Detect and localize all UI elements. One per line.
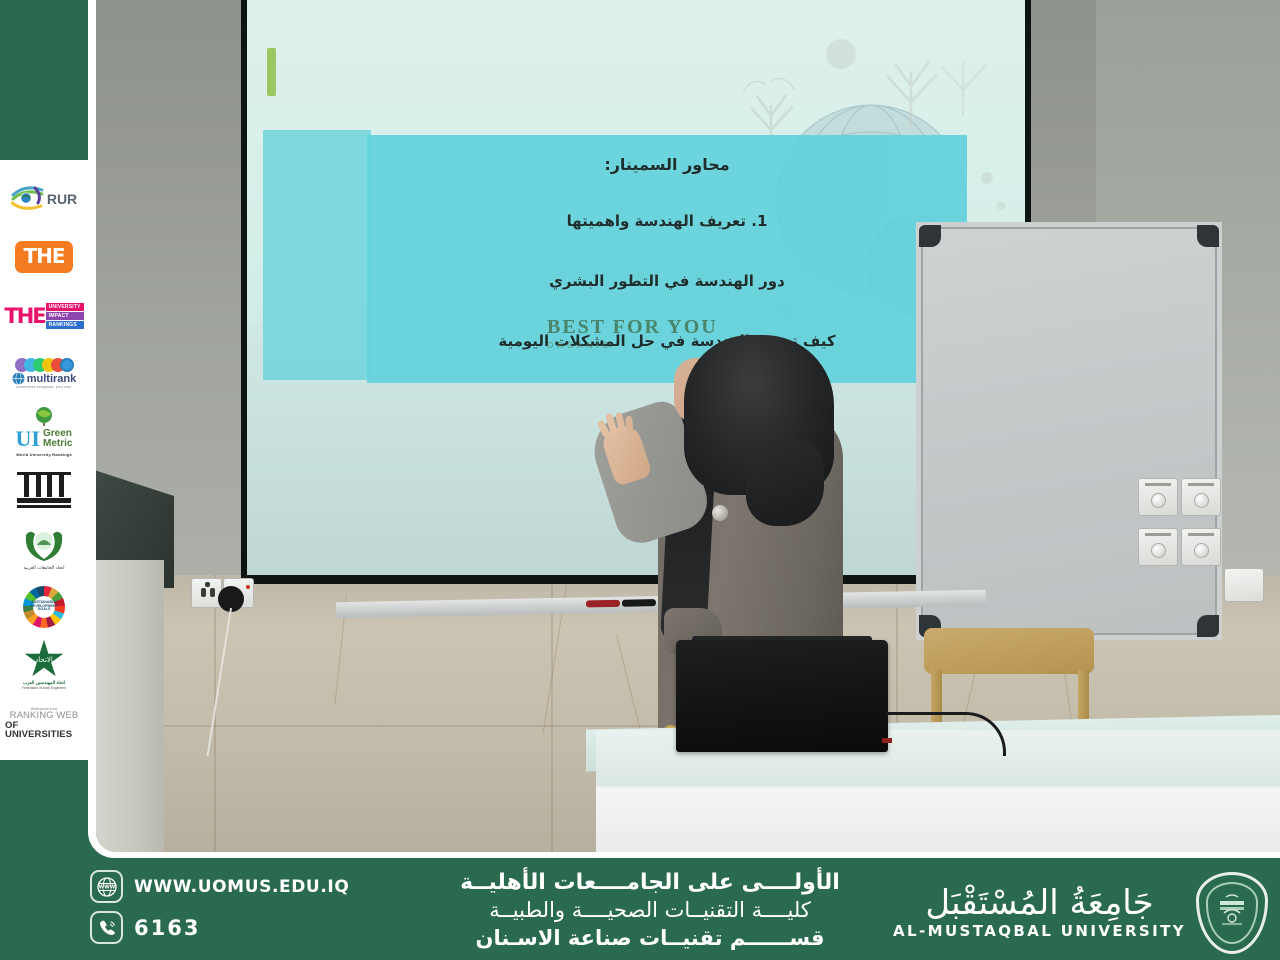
footer-arabic-line-1: الأولــــى على الجامــــعات الأهليــة bbox=[420, 868, 880, 897]
webometrics-logo: Webometrics RANKING WEB OF UNIVERSITIES bbox=[5, 694, 83, 752]
rur-label: RUR bbox=[47, 191, 77, 207]
phone-icon bbox=[90, 911, 123, 944]
presenter-hijab-drape bbox=[746, 440, 824, 526]
sdg-wheel-icon: SUSTAINABLE DEVELOPMENT GOALS bbox=[23, 586, 65, 628]
phone-row[interactable]: 6163 bbox=[90, 911, 430, 944]
umultirank-logo: multirank universities compared. your wa… bbox=[5, 345, 83, 403]
ui-greenmetric-line2: Metric bbox=[43, 439, 72, 450]
phone-number: 6163 bbox=[134, 916, 200, 940]
presenter-hand bbox=[599, 422, 652, 487]
multirank-globe-icon bbox=[12, 372, 25, 385]
slide-title: محاور السمينار: bbox=[393, 155, 941, 174]
ui-greenmetric-sub: World University Rankings bbox=[16, 452, 72, 457]
sdg-hub-text: SUSTAINABLE DEVELOPMENT GOALS bbox=[33, 596, 55, 618]
the-impact-letters: THE bbox=[4, 304, 44, 328]
multirank-sub: universities compared. your way. bbox=[16, 385, 72, 389]
the-impact-bar-rankings: RANKINGS bbox=[46, 321, 84, 329]
webometrics-line2: RANKING WEB bbox=[10, 711, 79, 721]
webometrics-line3: OF UNIVERSITIES bbox=[5, 721, 83, 740]
temple-icon bbox=[17, 472, 71, 508]
university-shield-logo bbox=[1196, 872, 1268, 954]
wall-dimmer-1[interactable] bbox=[1138, 478, 1178, 516]
wall-socket-right[interactable] bbox=[1224, 568, 1264, 602]
arab-universities-caption: اتحاد الجامعات العربية bbox=[23, 566, 64, 571]
slide-bullet-1: 1. تعريف الهندسة واهميتها bbox=[393, 212, 941, 230]
laptop-power-cord bbox=[886, 712, 1006, 756]
podium-column bbox=[96, 560, 164, 852]
accreditation-logo-rail: RUR THE THE UNIVERSITY IMPACT RANKINGS bbox=[0, 160, 88, 760]
footer-contact-block: WWW WWW.UOMUS.EDU.IQ 6163 bbox=[90, 870, 430, 952]
sdg-wheel-logo: SUSTAINABLE DEVELOPMENT GOALS bbox=[5, 577, 83, 635]
ui-greenmetric-logo: UI Green Metric World University Ranking… bbox=[5, 403, 83, 461]
the-impact-bar-university: UNIVERSITY bbox=[46, 303, 84, 311]
multirank-label: multirank bbox=[27, 373, 77, 385]
rur-logo: RUR bbox=[5, 170, 83, 228]
lecture-hall-photo: محاور السمينار: 1. تعريف الهندسة واهميته… bbox=[96, 0, 1280, 852]
university-name-arabic: جَامِعَةُ المُسْتَقْبَل bbox=[893, 886, 1186, 922]
fae-english: Federation of Arab Engineers bbox=[22, 686, 66, 690]
rur-eye-icon bbox=[11, 186, 45, 212]
wall-dimmer-4[interactable] bbox=[1181, 528, 1221, 566]
footer-arabic-block: الأولــــى على الجامــــعات الأهليــة كل… bbox=[420, 868, 880, 952]
multirank-circles-icon bbox=[15, 358, 74, 372]
svg-text:WWW: WWW bbox=[98, 884, 115, 890]
university-name-english: AL-MUSTAQBAL UNIVERSITY bbox=[893, 922, 1186, 940]
footer-arabic-line-3: قســــــم تقنيــات صناعة الاسـنان bbox=[420, 925, 880, 953]
the-impact-rankings-logo: THE UNIVERSITY IMPACT RANKINGS bbox=[5, 286, 83, 344]
laptop[interactable] bbox=[676, 640, 888, 752]
whiteboard bbox=[916, 222, 1222, 640]
qs-temple-logo bbox=[5, 461, 83, 519]
wall-dimmer-3[interactable] bbox=[1138, 528, 1178, 566]
wall-socket-left-1[interactable] bbox=[191, 578, 222, 608]
the-logo: THE bbox=[5, 228, 83, 286]
poster-canvas: محاور السمينار: 1. تعريف الهندسة واهميته… bbox=[0, 0, 1280, 960]
website-url: WWW.UOMUS.EDU.IQ bbox=[134, 877, 349, 897]
arab-universities-union-logo: اتحاد الجامعات العربية bbox=[5, 519, 83, 577]
university-brand-block: جَامِعَةُ المُسْتَقْبَل AL-MUSTAQBAL UNI… bbox=[893, 872, 1268, 954]
green-globe-icon bbox=[32, 406, 56, 426]
slide-bullet-2: دور الهندسة في التطور البشري bbox=[393, 272, 941, 290]
presenter-brooch bbox=[712, 505, 728, 521]
federation-arab-engineers-logo: الاتحاد اتحاد المهندسين العرب Federation… bbox=[5, 636, 83, 694]
footer-arabic-line-2: كليــــة التقنيــات الصحيــــة والطبيــة bbox=[420, 897, 880, 925]
shield-emblem-icon bbox=[1212, 891, 1252, 935]
the-label: THE bbox=[15, 241, 72, 273]
university-shield-inner bbox=[1206, 882, 1258, 944]
wreath-icon bbox=[17, 525, 71, 565]
university-wordmark: جَامِعَةُ المُسْتَقْبَل AL-MUSTAQBAL UNI… bbox=[893, 886, 1186, 941]
footer-bar: WWW WWW.UOMUS.EDU.IQ 6163 الأولــــى على… bbox=[0, 858, 1280, 960]
the-impact-bar-impact: IMPACT bbox=[46, 312, 84, 320]
slide-teal-block bbox=[263, 130, 371, 380]
slide-accent-bar bbox=[267, 48, 276, 96]
website-row[interactable]: WWW WWW.UOMUS.EDU.IQ bbox=[90, 870, 430, 903]
globe-www-icon: WWW bbox=[90, 870, 123, 903]
wall-dimmer-2[interactable] bbox=[1181, 478, 1221, 516]
chair-backrest bbox=[924, 628, 1094, 674]
fae-star-icon: الاتحاد bbox=[24, 640, 64, 680]
ui-greenmetric-mark: UI bbox=[16, 426, 40, 452]
cord-red-tip bbox=[882, 738, 892, 743]
